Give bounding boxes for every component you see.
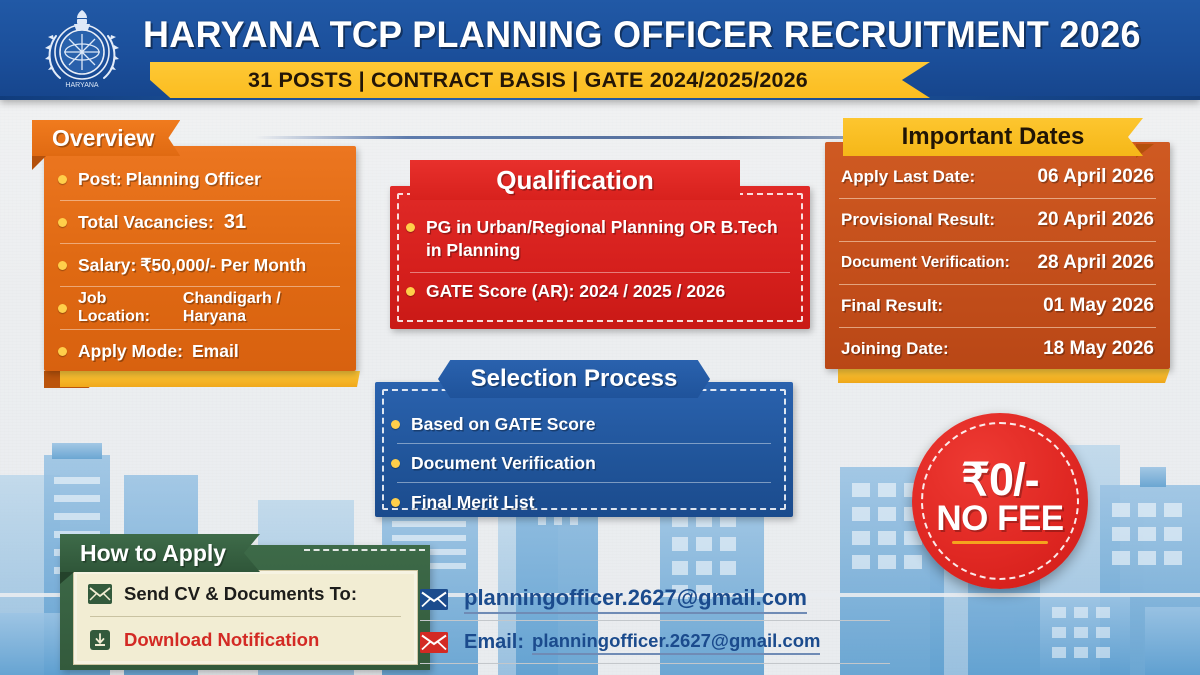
date-value: 28 April 2026 [1037,252,1154,274]
overview-item-label: Salary: [78,255,136,276]
date-row: Joining Date: 18 May 2026 [825,328,1170,370]
envelope-blue-icon [420,589,448,610]
qualification-item: GATE Score (AR): 2024 / 2025 / 2026 [390,281,810,302]
dates-bottom-ribbon [838,369,1170,383]
contact-email-block: planningofficer.2627@gmail.com Email: pl… [420,578,890,664]
subtitle-text: 31 POSTS | CONTRACT BASIS | GATE 2024/20… [248,68,808,93]
date-value: 01 May 2026 [1043,295,1154,317]
overview-item-value: Chandigarh / Haryana [183,290,342,326]
qualification-panel: PG in Urban/Regional Planning OR B.Tech … [390,186,810,329]
envelope-icon [88,584,112,604]
fee-underline [952,541,1048,544]
bullet-icon [406,287,415,296]
subtitle-ribbon: 31 POSTS | CONTRACT BASIS | GATE 2024/20… [150,62,930,98]
date-label: Provisional Result: [841,210,995,230]
overview-tab-text: Overview [52,125,154,152]
overview-item-label: Post: [78,169,122,190]
email-divider-bottom [420,663,890,664]
selection-item: Final Merit List [375,483,793,521]
bullet-icon [391,498,400,507]
date-label: Apply Last Date: [841,167,975,187]
date-row: Apply Last Date: 06 April 2026 [825,156,1170,198]
primary-email-row[interactable]: planningofficer.2627@gmail.com [420,578,890,620]
overview-item: Salary: ₹50,000/- Per Month [44,244,356,286]
fee-label: NO FEE [936,501,1063,538]
overview-item-value: ₹50,000/- Per Month [140,255,306,276]
date-row: Provisional Result: 20 April 2026 [825,199,1170,241]
dates-tab-text: Important Dates [902,123,1085,151]
selection-item-text: Document Verification [411,453,596,474]
overview-item: Total Vacancies: 31 [44,201,356,243]
apply-row-download[interactable]: Download Notification [74,617,417,662]
date-label: Final Result: [841,296,943,316]
date-row: Document Verification: 28 April 2026 [825,242,1170,284]
svg-text:HARYANA: HARYANA [65,82,99,89]
apply-row-text: Send CV & Documents To: [124,583,357,605]
bullet-icon [58,218,67,227]
overview-panel: Post: Planning Officer Total Vacancies: … [44,146,356,371]
date-label: Joining Date: [841,339,949,359]
bullet-icon [391,459,400,468]
poster-header: HARYANA HARYANA TCP PLANNING OFFICER REC… [0,0,1200,100]
important-dates-tab-label: Important Dates [843,118,1143,156]
overview-item-label: Total Vacancies: [78,212,214,233]
qualification-separator [410,272,790,273]
date-value: 18 May 2026 [1043,338,1154,360]
envelope-red-icon [420,632,448,653]
qualification-tab-label: Qualification [410,160,740,200]
overview-item-label: Apply Mode: [78,341,183,362]
apply-row-text: Download Notification [124,629,319,651]
selection-item-text: Based on GATE Score [411,414,595,435]
download-icon [88,630,112,650]
overview-bottom-ribbon [60,371,360,387]
overview-item: Job Location: Chandigarh / Haryana [44,287,356,329]
overview-item-label: Job Location: [78,290,179,326]
qualification-item-text: PG in Urban/Regional Planning OR B.Tech … [426,216,794,262]
date-value: 20 April 2026 [1037,209,1154,231]
selection-item: Document Verification [375,444,793,482]
important-dates-panel: Apply Last Date: 06 April 2026 Provision… [825,142,1170,369]
secondary-email-text[interactable]: planningofficer.2627@gmail.com [532,630,820,655]
apply-row-send-cv[interactable]: Send CV & Documents To: [74,571,417,616]
bullet-icon [58,175,67,184]
secondary-email-prefix: Email: [464,631,524,654]
overview-item-value: Planning Officer [126,169,261,190]
fee-amount: ₹0/- [961,458,1038,501]
overview-item-value: 31 [224,211,246,234]
date-value: 06 April 2026 [1037,166,1154,188]
selection-item: Based on GATE Score [375,405,793,443]
date-label: Document Verification: [841,254,1010,272]
how-to-apply-card: Send CV & Documents To: Download Notific… [73,570,418,665]
selection-tab-text: Selection Process [471,365,678,393]
secondary-email-row[interactable]: Email: planningofficer.2627@gmail.com [420,621,890,663]
qualification-item: PG in Urban/Regional Planning OR B.Tech … [390,216,810,262]
overview-item-value: Email [192,341,239,362]
no-fee-badge: ₹0/- NO FEE [912,413,1088,589]
bullet-icon [406,223,415,232]
bullet-icon [58,261,67,270]
page-title: HARYANA TCP PLANNING OFFICER RECRUITMENT… [143,14,1123,56]
infographic-poster: HARYANA HARYANA TCP PLANNING OFFICER REC… [0,0,1200,675]
overview-item: Apply Mode: Email [44,330,356,372]
qualification-item-text: GATE Score (AR): 2024 / 2025 / 2026 [426,281,725,302]
bullet-icon [391,420,400,429]
selection-process-panel: Based on GATE Score Document Verificatio… [375,382,793,517]
selection-item-text: Final Merit List [411,492,534,513]
overview-tab-label: Overview [32,120,180,156]
selection-process-tab-label: Selection Process [438,360,710,398]
overview-item: Post: Planning Officer [44,158,356,200]
bullet-icon [58,347,67,356]
qualification-tab-text: Qualification [496,165,653,196]
date-row: Final Result: 01 May 2026 [825,285,1170,327]
primary-email-text[interactable]: planningofficer.2627@gmail.com [464,585,807,614]
apply-tab-text: How to Apply [80,540,226,567]
how-to-apply-tab-label: How to Apply [60,534,260,572]
haryana-government-emblem-icon: HARYANA [36,6,128,92]
bullet-icon [58,304,67,313]
